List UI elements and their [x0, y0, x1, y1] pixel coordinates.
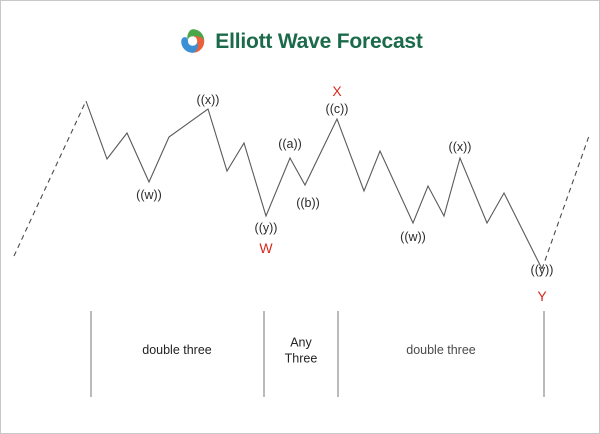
- degree-label-y: Y: [537, 289, 546, 303]
- wave-label-w-0: ((w)): [136, 189, 162, 202]
- section-label-1: double three: [142, 343, 212, 359]
- wave-label-w-6: ((w)): [400, 231, 426, 244]
- degree-label-x: X: [332, 84, 341, 98]
- section-label-3: double three: [406, 343, 476, 359]
- wave-label-x-7: ((x)): [449, 141, 472, 154]
- wave-label-c-5: ((c)): [326, 103, 349, 116]
- degree-label-w: W: [259, 241, 272, 255]
- section-label-2: AnyThree: [285, 335, 318, 366]
- wave-label-b-4: ((b)): [296, 197, 320, 210]
- projection-dashed-line: [542, 136, 589, 269]
- lead-in-dashed-line: [14, 101, 86, 256]
- wave-label-y-8: ((y)): [531, 264, 554, 277]
- elliott-wave-diagram: Elliott Wave Forecast ((w))((x))((y))((a…: [0, 0, 600, 434]
- wave-label-x-1: ((x)): [197, 94, 220, 107]
- wave-chart-canvas: [1, 1, 600, 434]
- wave-label-a-3: ((a)): [278, 138, 302, 151]
- wave-label-y-2: ((y)): [255, 222, 278, 235]
- wave-structure-line: [86, 101, 542, 269]
